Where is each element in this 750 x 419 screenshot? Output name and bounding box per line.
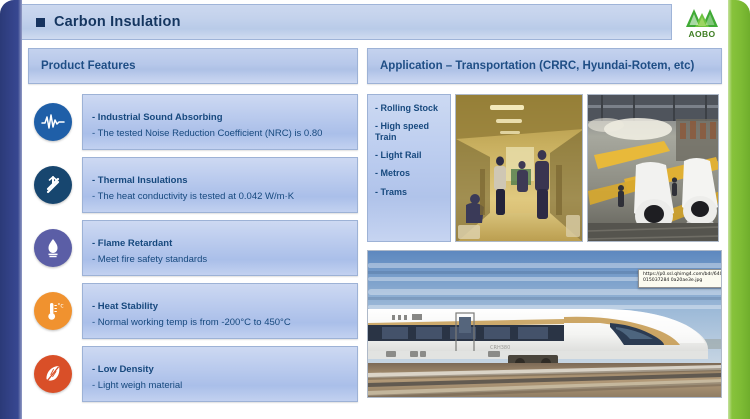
svg-text:°c: °c xyxy=(57,303,63,310)
application-list: - Rolling Stock - High speed Train - Lig… xyxy=(367,94,451,242)
thermometer-icon: °c xyxy=(34,292,72,330)
feature-list: - Industrial Sound Absorbing - The teste… xyxy=(28,94,358,409)
list-item: - Rolling Stock xyxy=(375,103,444,113)
logo-wordmark: AOBO xyxy=(688,29,715,39)
feature-detail: - Meet fire safety standards xyxy=(92,252,348,268)
slide-canvas: Carbon Insulation AOBO Product Features xyxy=(0,0,750,419)
sound-wave-icon xyxy=(34,103,72,141)
product-features-header: Product Features xyxy=(28,48,358,84)
image-url-tooltip: https://p0.ssl.qhimg4.com/bdr/640__/t 01… xyxy=(638,269,722,288)
product-features-header-label: Product Features xyxy=(41,60,136,72)
flame-retardant-icon xyxy=(34,229,72,267)
list-item: - Metros xyxy=(375,168,444,178)
feature-text-box: - Low Density - Light weigh material xyxy=(82,346,358,402)
page-title: Carbon Insulation xyxy=(54,14,181,30)
feature-title: - Low Density xyxy=(92,362,348,378)
feature-title: - Industrial Sound Absorbing xyxy=(92,110,348,126)
application-panel: Application – Transportation (CRRC, Hyun… xyxy=(367,48,722,414)
feature-title: - Heat Stability xyxy=(92,299,348,315)
tooltip-line-2: 015037284 0a20ae3e.jpg xyxy=(643,278,722,284)
feature-text-box: - Heat Stability - Normal working temp i… xyxy=(82,283,358,339)
feature-row[interactable]: - Low Density - Light weigh material xyxy=(28,346,358,402)
train-interior-assembly-photo[interactable] xyxy=(455,94,583,242)
application-header-label: Application – Transportation (CRRC, Hyun… xyxy=(380,60,694,72)
application-header: Application – Transportation (CRRC, Hyun… xyxy=(367,48,722,84)
feature-detail: - The tested Noise Reduction Coefficient… xyxy=(92,126,348,142)
list-item: - Light Rail xyxy=(375,150,444,160)
aobo-triangle-logo-icon xyxy=(685,7,719,31)
left-decorative-rail xyxy=(0,0,22,419)
feature-row[interactable]: - Flame Retardant - Meet fire safety sta… xyxy=(28,220,358,276)
list-item: - High speed Train xyxy=(375,121,444,142)
feature-row[interactable]: - Thermal Insulations - The heat conduct… xyxy=(28,157,358,213)
svg-text:CRH380: CRH380 xyxy=(490,345,510,351)
list-item: - Trams xyxy=(375,187,444,197)
high-speed-train-photo[interactable]: CRH380 xyxy=(367,250,722,398)
feature-title: - Thermal Insulations xyxy=(92,173,348,189)
feature-row[interactable]: - Industrial Sound Absorbing - The teste… xyxy=(28,94,358,150)
feature-text-box: - Thermal Insulations - The heat conduct… xyxy=(82,157,358,213)
feature-row[interactable]: °c - Heat Stability - Normal working tem… xyxy=(28,283,358,339)
train-factory-nosecones-photo[interactable] xyxy=(587,94,719,242)
thermal-insulation-icon xyxy=(34,166,72,204)
feature-text-box: - Flame Retardant - Meet fire safety sta… xyxy=(82,220,358,276)
application-media-row: - Rolling Stock - High speed Train - Lig… xyxy=(367,94,722,242)
feature-detail: - Light weigh material xyxy=(92,378,348,394)
aobo-logo: AOBO xyxy=(680,3,724,43)
feather-low-density-icon xyxy=(34,355,72,393)
slide-title-bar: Carbon Insulation xyxy=(22,4,672,40)
product-features-panel: Product Features - Industrial Sound Abso… xyxy=(28,48,358,414)
slide-body: Product Features - Industrial Sound Abso… xyxy=(22,40,728,419)
square-bullet-icon xyxy=(36,18,45,27)
right-decorative-rail xyxy=(728,0,750,419)
feature-text-box: - Industrial Sound Absorbing - The teste… xyxy=(82,94,358,150)
feature-title: - Flame Retardant xyxy=(92,236,348,252)
feature-detail: - Normal working temp is from -200°C to … xyxy=(92,315,348,331)
feature-detail: - The heat conductivity is tested at 0.0… xyxy=(92,189,348,205)
